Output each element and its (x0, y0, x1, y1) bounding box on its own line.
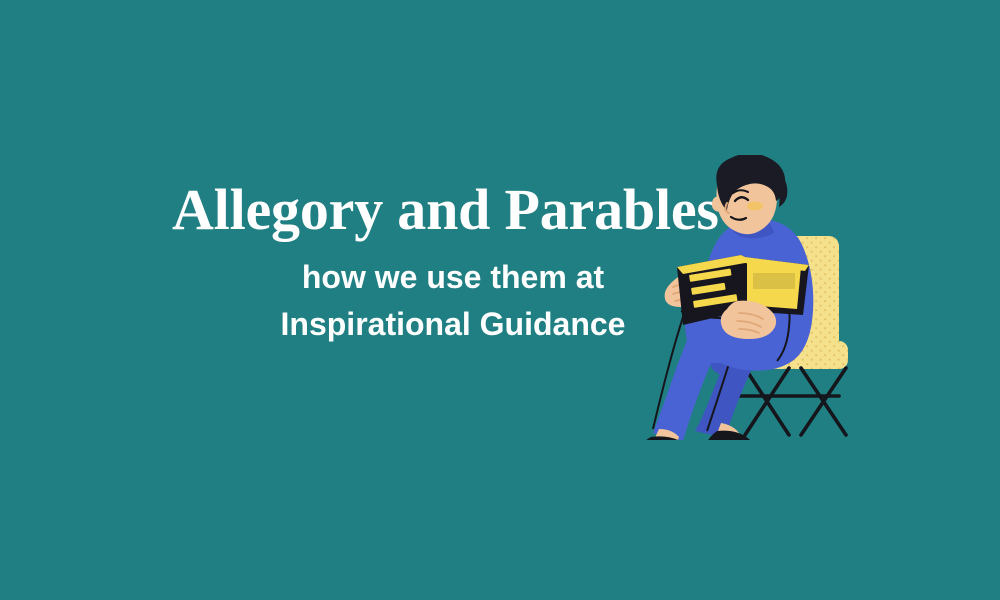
blush (747, 202, 763, 211)
book-page-band (753, 273, 795, 289)
ear (712, 197, 721, 212)
shoe-front (632, 436, 694, 440)
legs-and-shoes (632, 423, 755, 440)
illustration-svg (625, 155, 875, 440)
banner-canvas: Allegory and Parables how we use them at… (0, 0, 1000, 600)
person-reading-book-illustration (625, 155, 875, 440)
